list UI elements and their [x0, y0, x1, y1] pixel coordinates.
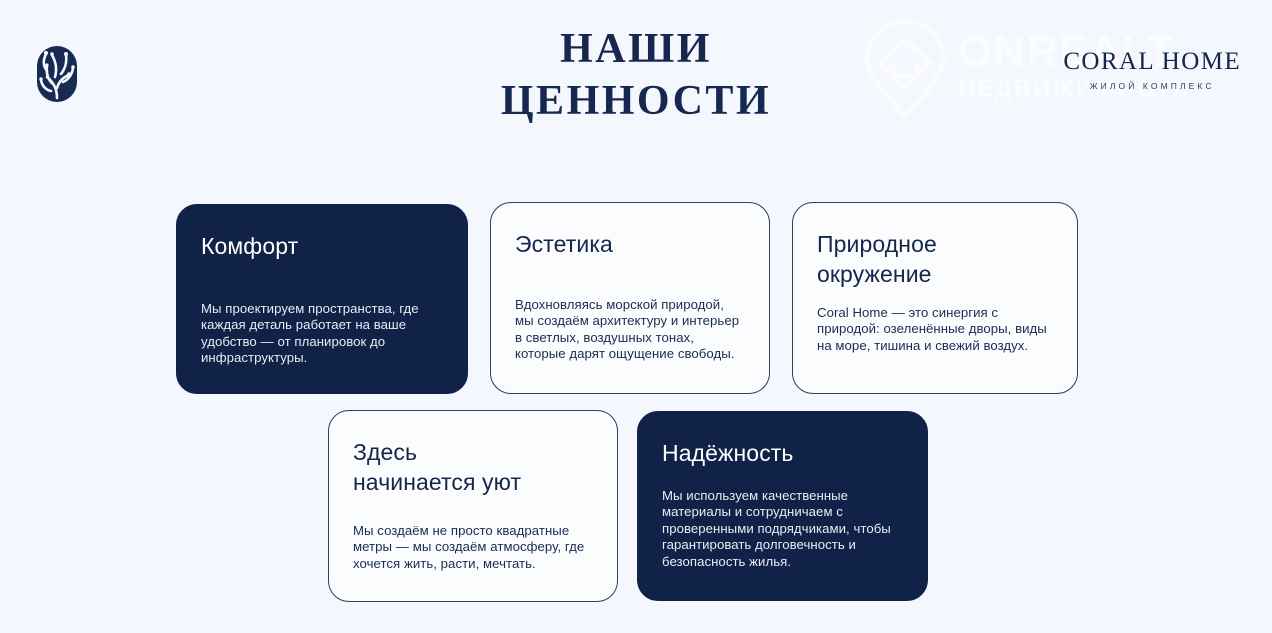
value-card-body: Мы создаём не просто квадратные метры — … — [353, 523, 593, 572]
coral-home-brand: CORAL HOME ЖИЛОЙ КОМПЛЕКС — [1063, 48, 1241, 93]
value-card-nature: Природное окружение Coral Home — это син… — [792, 202, 1078, 394]
value-card-title: Комфорт — [201, 231, 443, 261]
value-card-title: Природное окружение — [817, 229, 1053, 289]
value-card-title: Здесь начинается уют — [353, 437, 593, 497]
value-card-title: Надёжность — [662, 438, 903, 468]
value-card-reliability: Надёжность Мы используем качественные ма… — [637, 411, 928, 601]
value-card-body: Вдохновляясь морской природой, мы создаё… — [515, 297, 745, 363]
value-card-body: Мы проектируем пространства, где каждая … — [201, 301, 443, 367]
value-card-body: Мы используем качественные материалы и с… — [662, 488, 903, 570]
value-card-comfort: Комфорт Мы проектируем пространства, где… — [176, 204, 468, 394]
coral-branch-mark-icon — [33, 44, 81, 104]
value-card-cozy: Здесь начинается уют Мы создаём не прост… — [328, 410, 618, 602]
value-card-aesthetics: Эстетика Вдохновляясь морской природой, … — [490, 202, 770, 394]
slide-canvas: ONREALT НЕДВИЖИМОСТЬ CORAL HOME — [0, 0, 1272, 633]
value-card-body: Coral Home — это синергия с природой: оз… — [817, 305, 1053, 354]
brand-name: CORAL HOME — [1063, 48, 1241, 76]
brand-tagline: ЖИЛОЙ КОМПЛЕКС — [1063, 79, 1241, 93]
value-card-title: Эстетика — [515, 229, 745, 259]
